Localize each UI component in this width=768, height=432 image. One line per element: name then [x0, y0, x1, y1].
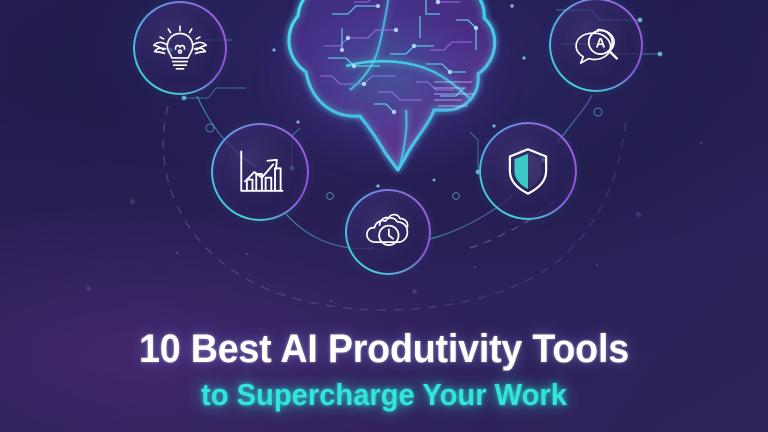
- promo-graphic: A: [0, 0, 768, 432]
- cloud-clock-icon: [361, 205, 415, 259]
- node-search[interactable]: A: [549, 0, 643, 92]
- node-idea[interactable]: [133, 1, 227, 95]
- node-analytics[interactable]: [211, 123, 309, 221]
- page-subtitle: to Supercharge Your Work: [23, 379, 745, 412]
- shield-fill: [514, 154, 528, 189]
- chat-search-icon: A: [567, 16, 625, 74]
- title-block: 10 Best AI Produtivity Tools to Supercha…: [0, 328, 768, 412]
- bar-chart-growth-icon: [230, 142, 290, 202]
- shield-icon: [499, 142, 557, 200]
- node-cloud[interactable]: [345, 189, 431, 275]
- arc-security-search: [558, 95, 592, 142]
- lightbulb-wings-icon: [151, 19, 209, 77]
- letter-a-glyph: A: [596, 36, 606, 51]
- page-title: 10 Best AI Produtivity Tools: [23, 328, 745, 370]
- node-security[interactable]: [479, 122, 577, 220]
